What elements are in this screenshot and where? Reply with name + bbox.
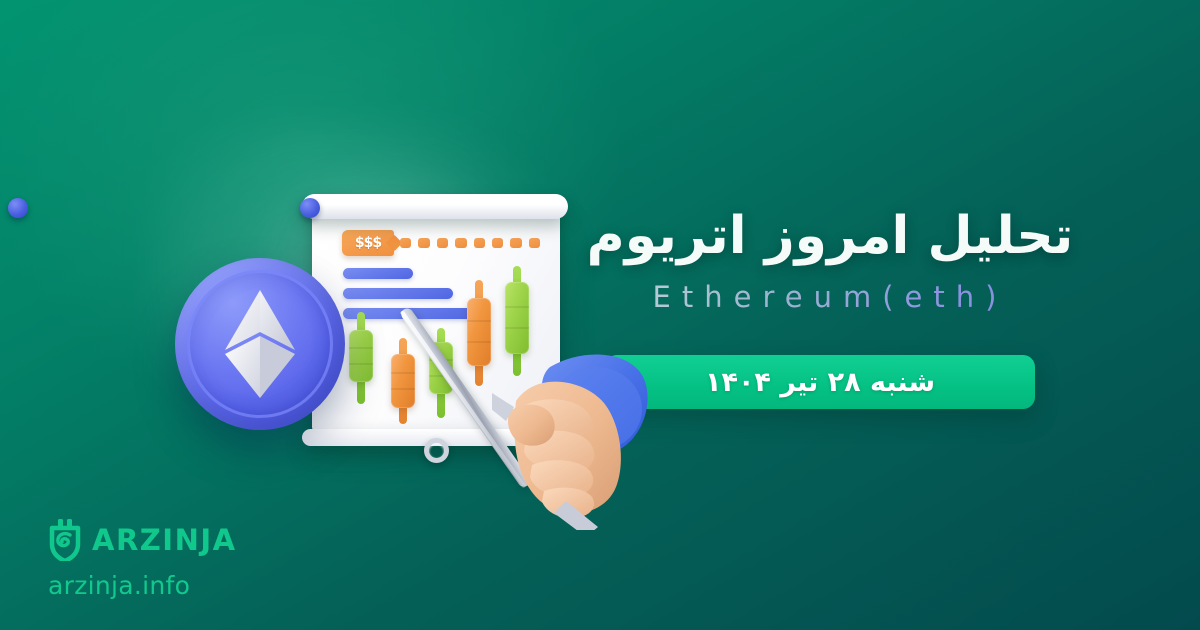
ethereum-diamond-icon <box>223 288 297 400</box>
dashed-trend-line <box>400 238 540 248</box>
date-badge: شنبه ۲۸ تیر ۱۴۰۴ <box>605 355 1035 409</box>
brand-url[interactable]: arzinja.info <box>48 571 237 600</box>
roller-cap-left <box>300 198 320 218</box>
headline-block: تحلیل امروز اتریوم Ethereum(eth) <box>520 205 1140 314</box>
ethereum-coin <box>175 258 345 430</box>
page-title: تحلیل امروز اتریوم <box>520 205 1140 268</box>
brand-name: ARZINJA <box>92 523 237 557</box>
page-subtitle: Ethereum(eth) <box>520 280 1140 314</box>
arzinja-shield-spiral-icon <box>48 519 82 561</box>
candlestick-2 <box>390 338 416 424</box>
banner-canvas: $$$ <box>0 0 1200 630</box>
poster-roller <box>302 194 568 219</box>
price-tag: $$$ <box>342 230 394 256</box>
poster-pull-ring <box>424 438 449 463</box>
poster-text-line <box>343 288 453 299</box>
hand-holding-pointer-icon <box>492 345 662 530</box>
candlestick-1 <box>348 312 374 404</box>
brand-block[interactable]: ARZINJA arzinja.info <box>48 519 237 600</box>
roller-cap-right <box>8 198 28 218</box>
date-badge-label: شنبه ۲۸ تیر ۱۴۰۴ <box>705 367 935 398</box>
candlestick-4 <box>466 280 492 386</box>
price-tag-label: $$$ <box>355 235 381 251</box>
poster-text-line <box>343 268 413 279</box>
